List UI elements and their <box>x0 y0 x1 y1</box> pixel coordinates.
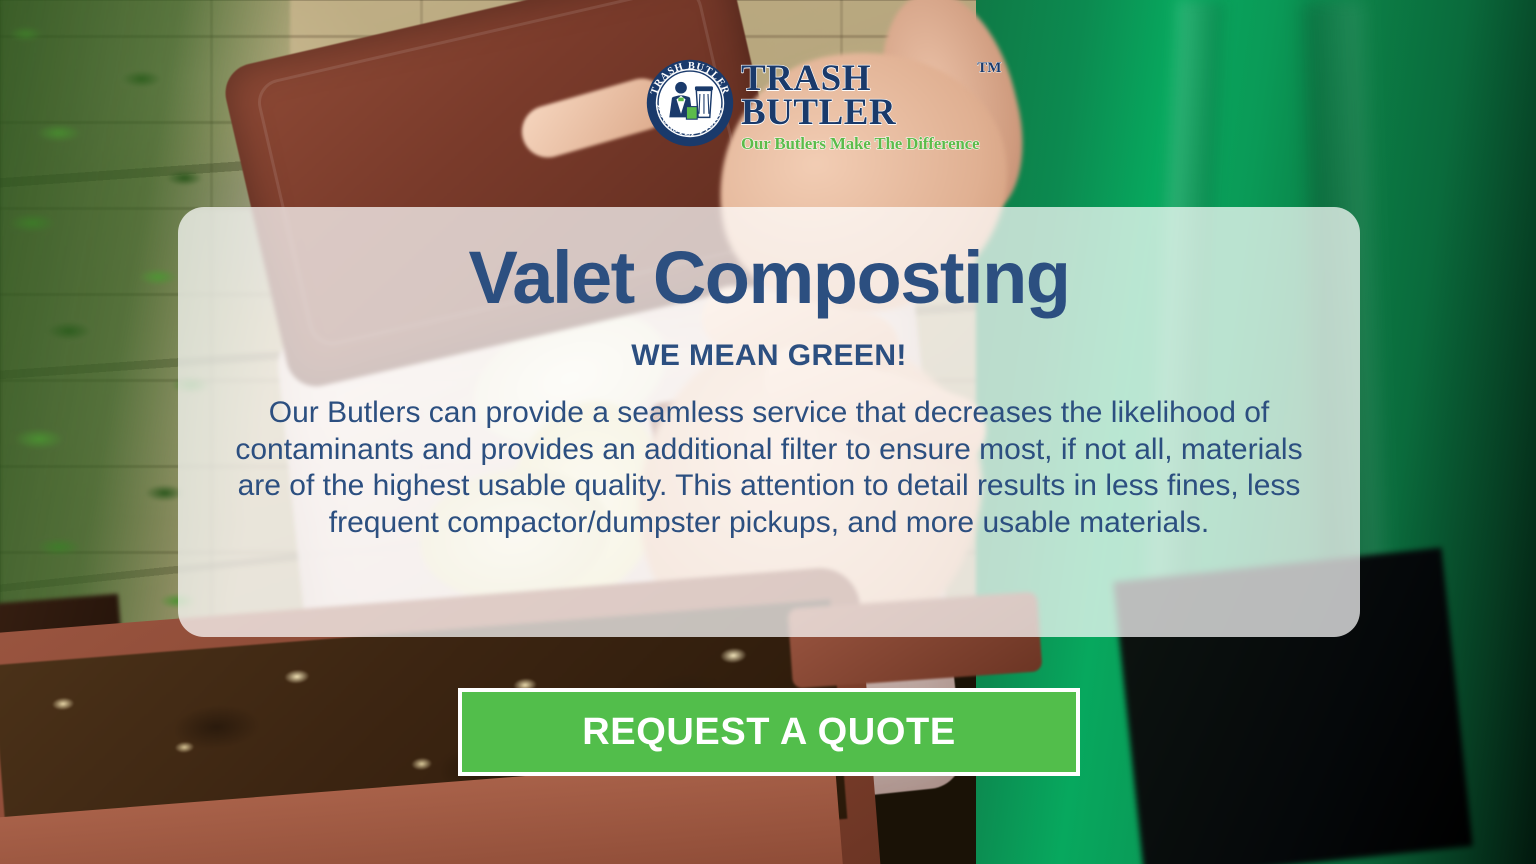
logo-name-line2: BUTLER <box>741 96 979 130</box>
butler-seal-icon: TRASH BUTLER DOORSTEP PICKUP <box>645 58 735 148</box>
request-a-quote-button[interactable]: REQUEST A QUOTE <box>458 688 1080 776</box>
hero-content-panel: Valet Composting WE MEAN GREEN! Our Butl… <box>178 207 1360 637</box>
trash-butler-logo[interactable]: TRASH BUTLER DOORSTEP PICKUP <box>645 58 895 158</box>
hero-body-copy: Our Butlers can provide a seamless servi… <box>229 395 1309 543</box>
logo-name-line1: TRASH <box>741 62 979 96</box>
hero-subhead: WE MEAN GREEN! <box>631 339 907 373</box>
hero-banner: TRASH BUTLER DOORSTEP PICKUP <box>0 0 1536 864</box>
logo-wordmark: TRASH BUTLER TM Our Butlers Make The Dif… <box>741 58 979 154</box>
cta-label: REQUEST A QUOTE <box>582 711 956 754</box>
page-title: Valet Composting <box>469 239 1070 317</box>
logo-tagline: Our Butlers Make The Difference <box>741 134 979 154</box>
trademark-symbol: TM <box>977 60 1001 77</box>
